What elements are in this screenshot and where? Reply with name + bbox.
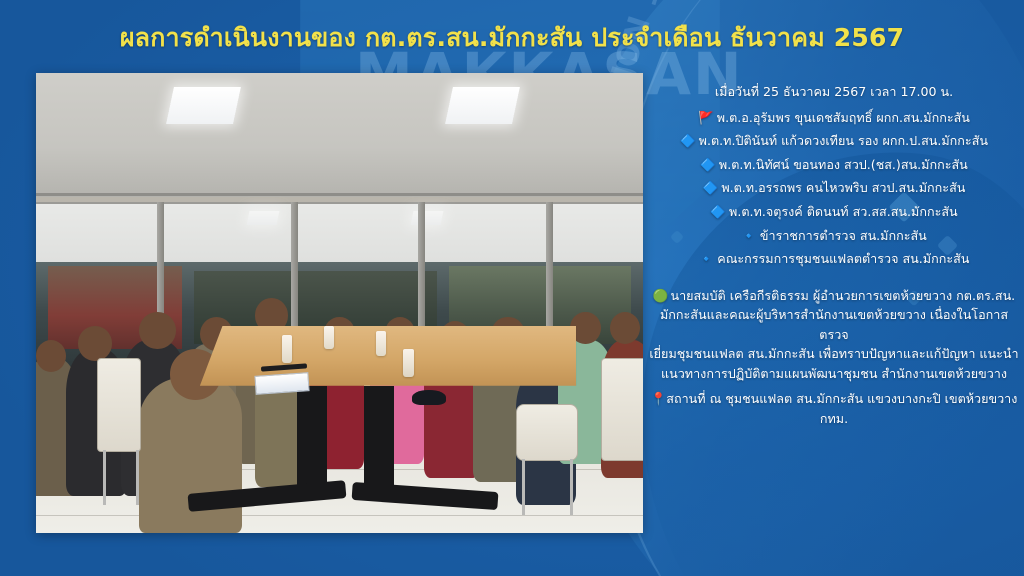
photo-ceiling-edge <box>36 193 643 196</box>
water-bottle <box>403 349 413 377</box>
blue-diamond-icon: 🔷 <box>700 157 716 172</box>
details-panel: เมื่อวันที่ 25 ธันวาคม 2567 เวลา 17.00 น… <box>648 86 1020 428</box>
water-bottle <box>376 331 386 356</box>
red-flag-icon: 🚩 <box>698 110 714 125</box>
person-head <box>78 326 111 361</box>
attendee-name: ข้าราชการตำรวจ สน.มักกะสัน <box>760 228 927 243</box>
location-line-1: 📍สถานที่ ณ ชุมชนแฟลต สน.มักกะสัน แขวงบาง… <box>648 389 1020 409</box>
window-reflection <box>411 211 444 225</box>
chair <box>601 358 644 461</box>
attendee-row: 🚩พ.ต.อ.อุรัมพร ขุนเดชสัมฤทธิ์ ผกก.สน.มัก… <box>648 112 1020 125</box>
chair-leg <box>570 459 573 514</box>
ceiling-light-panel <box>166 87 241 124</box>
green-circle-icon: 🟢 <box>653 288 669 303</box>
person-head <box>139 312 175 349</box>
datetime-line: เมื่อวันที่ 25 ธันวาคม 2567 เวลา 17.00 น… <box>648 86 1020 99</box>
attendee-row: 🔷พ.ต.ท.นิทัศน์ ขอนทอง สวป.(ชส.)สน.มักกะส… <box>648 159 1020 172</box>
person-head <box>610 312 640 344</box>
paragraph-line-3: เยี่ยมชุมชนแฟลต สน.มักกะสัน เพื่อทราบปัญ… <box>648 344 1020 364</box>
attendee-name: พ.ต.ท.อรรถพร คนไหวพริบ สวป.สน.มักกะสัน <box>721 180 965 195</box>
blue-diamond-icon: 🔷 <box>703 180 719 195</box>
attendee-name: พ.ต.ท.จตุรงค์ ติดนนท์ สว.สส.สน.มักกะสัน <box>729 204 958 219</box>
chair-leg <box>522 459 525 514</box>
attendee-name: พ.ต.ท.ปิตินันท์ แก้วดวงเทียน รอง ผกก.ป.ส… <box>699 133 988 148</box>
meeting-photo <box>36 73 643 533</box>
ceiling-light-panel <box>445 87 520 124</box>
chair-leg <box>136 450 139 505</box>
small-blue-diamond-icon: 🔹 <box>741 228 757 243</box>
photo-ceiling <box>36 73 643 197</box>
location-text: สถานที่ ณ ชุมชนแฟลต สน.มักกะสัน แขวงบางก… <box>666 391 1017 406</box>
attendee-name: พ.ต.อ.อุรัมพร ขุนเดชสัมฤทธิ์ ผกก.สน.มักก… <box>717 110 970 125</box>
table-leg <box>297 386 327 496</box>
attendee-row: 🔷พ.ต.ท.จตุรงค์ ติดนนท์ สว.สส.สน.มักกะสัน <box>648 206 1020 219</box>
attendee-name: พ.ต.ท.นิทัศน์ ขอนทอง สวป.(ชส.)สน.มักกะสั… <box>719 157 968 172</box>
blue-diamond-icon: 🔷 <box>710 204 726 219</box>
paragraph-line-4: แนวทางการปฏิบัติตามแผนพัฒนาชุมชน สำนักงา… <box>648 364 1020 384</box>
attendee-row: 🔹ข้าราชการตำรวจ สน.มักกะสัน <box>648 230 1020 243</box>
map-pin-icon: 📍 <box>651 391 667 406</box>
water-bottle <box>324 326 334 349</box>
paragraph-text: นายสมบัติ เครือกีรติธรรม ผู้อำนวยการเขตห… <box>670 288 1015 303</box>
body-paragraph: 🟢นายสมบัติ เครือกีรติธรรม ผู้อำนวยการเขต… <box>648 286 1020 384</box>
small-blue-diamond-icon: 🔹 <box>699 251 715 266</box>
page-title: ผลการดำเนินงานของ กต.ตร.สน.มักกะสัน ประจ… <box>0 18 1024 58</box>
paragraph-line-1: 🟢นายสมบัติ เครือกีรติธรรม ผู้อำนวยการเขต… <box>648 286 1020 306</box>
attendee-row: 🔷พ.ต.ท.อรรถพร คนไหวพริบ สวป.สน.มักกะสัน <box>648 182 1020 195</box>
location-line-2: กทม. <box>648 409 1020 429</box>
blue-diamond-icon: 🔷 <box>680 133 696 148</box>
attendee-row: 🔷พ.ต.ท.ปิตินันท์ แก้วดวงเทียน รอง ผกก.ป.… <box>648 135 1020 148</box>
window-reflection <box>247 211 280 225</box>
floor-tile-line <box>36 515 643 516</box>
table-leg <box>364 386 394 496</box>
police-cap <box>412 390 445 405</box>
chair-leg <box>103 450 106 505</box>
attendee-row: 🔹คณะกรรมการชุมชนแฟลตตำรวจ สน.มักกะสัน <box>648 253 1020 266</box>
attendee-name: คณะกรรมการชุมชนแฟลตตำรวจ สน.มักกะสัน <box>717 251 969 266</box>
location-block: 📍สถานที่ ณ ชุมชนแฟลต สน.มักกะสัน แขวงบาง… <box>648 389 1020 428</box>
slide-canvas: MAKKASAN DIVISION 1 ผลการดำเนินงานของ กต… <box>0 0 1024 576</box>
paragraph-line-2: มักกะสันและคณะผู้บริหารสำนักงานเขตห้วยขว… <box>648 305 1020 344</box>
water-bottle <box>282 335 292 363</box>
chair <box>516 404 579 461</box>
chair <box>97 358 141 452</box>
